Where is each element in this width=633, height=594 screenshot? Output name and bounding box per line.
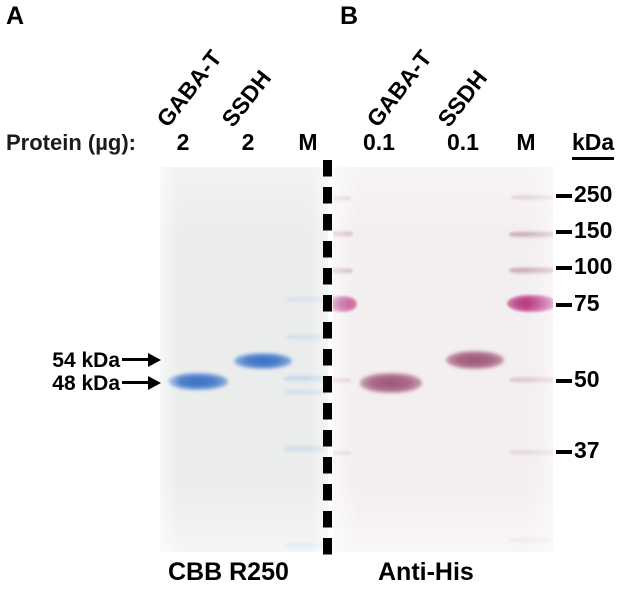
ladder-label-100: 100 bbox=[574, 255, 612, 278]
band-b-gabat-48kda bbox=[360, 373, 422, 393]
ladder-tick-75 bbox=[556, 303, 572, 307]
ladder-label-75: 75 bbox=[574, 292, 600, 315]
ladder-tick-100 bbox=[556, 266, 572, 270]
ladder-tick-150 bbox=[556, 230, 572, 234]
lane-load-b-gabat: 0.1 bbox=[355, 129, 403, 156]
ladder-tick-50 bbox=[556, 379, 572, 383]
marker-band-a-50 bbox=[284, 374, 326, 383]
panel-letter-a: A bbox=[6, 4, 24, 29]
lane-load-b-marker: M bbox=[506, 129, 546, 156]
ladder-label-250: 250 bbox=[574, 183, 612, 206]
kda-column-header: kDa bbox=[572, 129, 614, 160]
lane-load-b-ssdh: 0.1 bbox=[439, 129, 487, 156]
lane-load-a-ssdh: 2 bbox=[228, 129, 268, 156]
ladder-tick-250 bbox=[556, 194, 572, 198]
marker-band-a-45 bbox=[284, 389, 326, 396]
annotation-label-54kda: 54 kDa bbox=[16, 349, 120, 373]
marker-band-b-left-150 bbox=[333, 230, 353, 238]
band-a-gabat-48kda bbox=[168, 373, 228, 390]
marker-band-b-left-50 bbox=[333, 377, 351, 384]
protein-load-label: Protein (µg): bbox=[6, 130, 136, 156]
ladder-label-150: 150 bbox=[574, 219, 612, 242]
caption-panel-a: CBB R250 bbox=[168, 558, 289, 587]
figure-root: A B GABA-T SSDH GABA-T SSDH Protein (µg)… bbox=[0, 0, 633, 594]
lane-name-a-gabat: GABA-T bbox=[153, 46, 226, 131]
lane-name-b-gabat: GABA-T bbox=[363, 46, 436, 131]
caption-panel-b: Anti-His bbox=[378, 558, 474, 587]
marker-band-b-right-50 bbox=[509, 376, 553, 384]
marker-band-b-right-37 bbox=[509, 449, 553, 456]
annotation-arrow-head-54kda bbox=[148, 353, 161, 367]
marker-band-b-right-100 bbox=[509, 266, 553, 275]
marker-band-b-left-75 bbox=[333, 296, 357, 312]
ladder-label-50: 50 bbox=[574, 368, 600, 391]
band-a-ssdh-54kda bbox=[234, 353, 292, 369]
annotation-arrow-head-48kda bbox=[148, 376, 161, 390]
marker-band-b-right-250 bbox=[511, 194, 553, 201]
marker-band-b-left-100 bbox=[333, 267, 353, 275]
annotation-label-48kda: 48 kDa bbox=[16, 372, 120, 396]
marker-band-a-75 bbox=[286, 333, 326, 341]
lane-name-b-ssdh: SSDH bbox=[434, 66, 491, 131]
marker-band-a-100 bbox=[286, 296, 326, 303]
marker-band-a-37 bbox=[284, 445, 326, 453]
blot-b-shading bbox=[333, 167, 553, 552]
ladder-tick-37 bbox=[556, 450, 572, 454]
panel-letter-b: B bbox=[340, 4, 358, 29]
marker-band-b-left-250 bbox=[333, 195, 351, 202]
marker-band-b-left-37 bbox=[333, 450, 351, 456]
marker-band-b-right-75 bbox=[507, 295, 553, 312]
lane-load-a-gabat: 2 bbox=[163, 129, 203, 156]
ladder-label-37: 37 bbox=[574, 439, 600, 462]
lane-name-a-ssdh: SSDH bbox=[218, 66, 275, 131]
blot-panel-b bbox=[333, 167, 553, 552]
marker-band-b-right-25 bbox=[509, 537, 553, 544]
band-b-ssdh-54kda bbox=[446, 351, 504, 369]
lane-load-a-marker: M bbox=[288, 129, 328, 156]
gel-panel-a bbox=[160, 167, 328, 552]
marker-band-b-right-150 bbox=[509, 230, 553, 239]
marker-band-a-25 bbox=[284, 542, 326, 550]
panel-divider-dashed-line bbox=[323, 160, 332, 560]
